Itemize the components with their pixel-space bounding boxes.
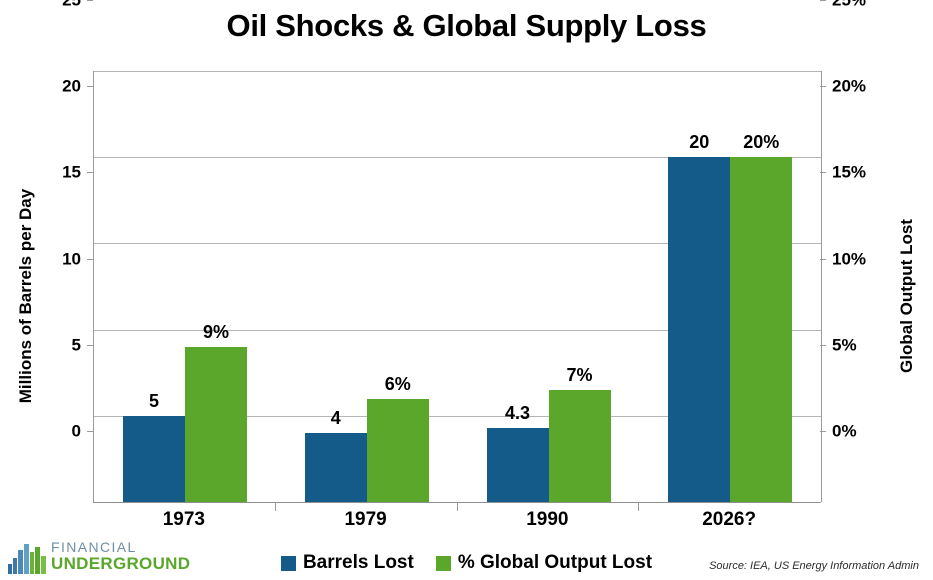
source-note: Source: IEA, US Energy Information Admin bbox=[709, 560, 919, 572]
bar-value-label: 5 bbox=[123, 391, 185, 412]
chart-title: Oil Shocks & Global Supply Loss bbox=[0, 8, 933, 44]
y-axis-right-tick-label: 15% bbox=[832, 164, 866, 181]
y-axis-left-tick-label: 15 bbox=[62, 164, 81, 181]
legend-swatch-icon bbox=[281, 556, 296, 571]
bar-group: 46% bbox=[275, 71, 457, 502]
category-label: 1979 bbox=[275, 509, 457, 531]
bar-green[interactable] bbox=[185, 347, 247, 502]
bar-blue[interactable] bbox=[123, 416, 185, 502]
y-axis-right-tick-label: 25% bbox=[832, 0, 866, 9]
y-axis-right-tick-label: 20% bbox=[832, 78, 866, 95]
bar-value-label: 20 bbox=[668, 132, 730, 153]
category-label: 1990 bbox=[457, 509, 639, 531]
category-label: 1973 bbox=[93, 509, 275, 531]
y-axis-right-tick-label: 0% bbox=[832, 423, 857, 440]
bar-green[interactable] bbox=[367, 399, 429, 502]
bar-value-label: 6% bbox=[367, 374, 429, 395]
category-label: 2026? bbox=[638, 509, 820, 531]
y-axis-left-tick-mark bbox=[87, 0, 93, 1]
bar-group: 2020% bbox=[638, 71, 820, 502]
bar-blue[interactable] bbox=[668, 157, 730, 502]
legend-swatch-icon bbox=[436, 556, 451, 571]
logo-bars-icon bbox=[8, 542, 46, 574]
y-axis-left-tick-label: 5 bbox=[72, 336, 81, 353]
bar-value-label: 20% bbox=[730, 132, 792, 153]
legend-item[interactable]: Barrels Lost bbox=[281, 552, 414, 574]
y-axis-right-tick-label: 10% bbox=[832, 250, 866, 267]
y-axis-right-tick-mark bbox=[820, 431, 826, 432]
bar-blue[interactable] bbox=[487, 428, 549, 502]
bar-value-label: 9% bbox=[185, 322, 247, 343]
bar-group: 59% bbox=[93, 71, 275, 502]
y-axis-right-tick-label: 5% bbox=[832, 336, 857, 353]
y-axis-right-tick-mark bbox=[820, 172, 826, 173]
y-axis-right-tick-mark bbox=[820, 0, 826, 1]
y-axis-right-title: Global Output Lost bbox=[897, 166, 917, 426]
legend-label: % Global Output Lost bbox=[458, 552, 652, 574]
logo-text-underground: UNDERGROUND bbox=[51, 555, 190, 572]
y-axis-right-tick-mark bbox=[820, 345, 826, 346]
legend-label: Barrels Lost bbox=[303, 552, 414, 574]
category-separator bbox=[457, 502, 458, 511]
legend-item[interactable]: % Global Output Lost bbox=[436, 552, 652, 574]
logo-text-financial: FINANCIAL bbox=[51, 540, 190, 554]
category-separator bbox=[275, 502, 276, 511]
bar-value-label: 4.3 bbox=[487, 403, 549, 424]
y-axis-left-tick-label: 0 bbox=[72, 423, 81, 440]
y-axis-left-tick-label: 10 bbox=[62, 250, 81, 267]
bar-blue[interactable] bbox=[305, 433, 367, 502]
bar-green[interactable] bbox=[730, 157, 792, 502]
y-axis-right-tick-mark bbox=[820, 86, 826, 87]
financial-underground-logo: FINANCIAL UNDERGROUND bbox=[8, 540, 190, 574]
y-axis-right-tick-mark bbox=[820, 259, 826, 260]
y-axis-left-tick-label: 20 bbox=[62, 78, 81, 95]
bar-value-label: 7% bbox=[549, 365, 611, 386]
bar-group: 4.37% bbox=[457, 71, 639, 502]
y-axis-left-tick-label: 25 bbox=[62, 0, 81, 9]
y-axis-left-title: Millions of Barrels per Day bbox=[16, 166, 36, 426]
bar-value-label: 4 bbox=[305, 408, 367, 429]
category-separator bbox=[638, 502, 639, 511]
bar-green[interactable] bbox=[549, 390, 611, 502]
